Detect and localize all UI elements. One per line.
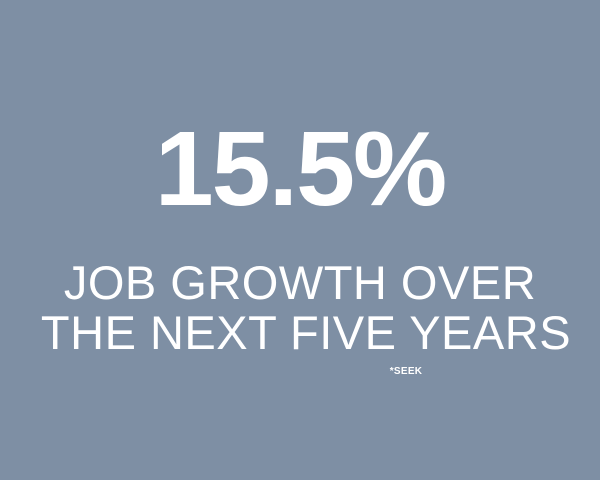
headline-stat-value: 15.5% bbox=[0, 0, 600, 222]
stat-card: 15.5% JOB GROWTH OVER THE NEXT FIVE YEAR… bbox=[0, 0, 600, 480]
subtitle-line-1: JOB GROWTH OVER bbox=[0, 258, 600, 308]
source-footnote: *SEEK bbox=[0, 366, 600, 378]
subtitle-line-2: THE NEXT FIVE YEARS bbox=[0, 308, 600, 358]
subtitle-block: JOB GROWTH OVER THE NEXT FIVE YEARS bbox=[0, 258, 600, 358]
